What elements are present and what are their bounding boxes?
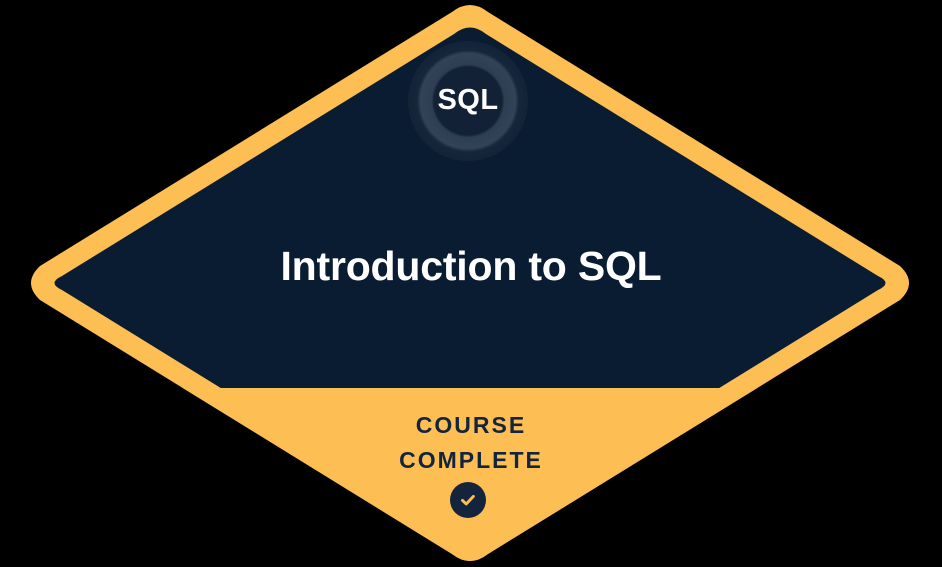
course-complete-badge: SQL Introduction to SQL COURSE COMPLETE [0,0,942,567]
sql-emblem-label: SQL [437,86,498,115]
check-badge [450,482,486,518]
check-circle-icon [450,482,486,518]
sql-emblem-icon: SQL [408,41,528,161]
diamond-lower-band [0,388,942,567]
